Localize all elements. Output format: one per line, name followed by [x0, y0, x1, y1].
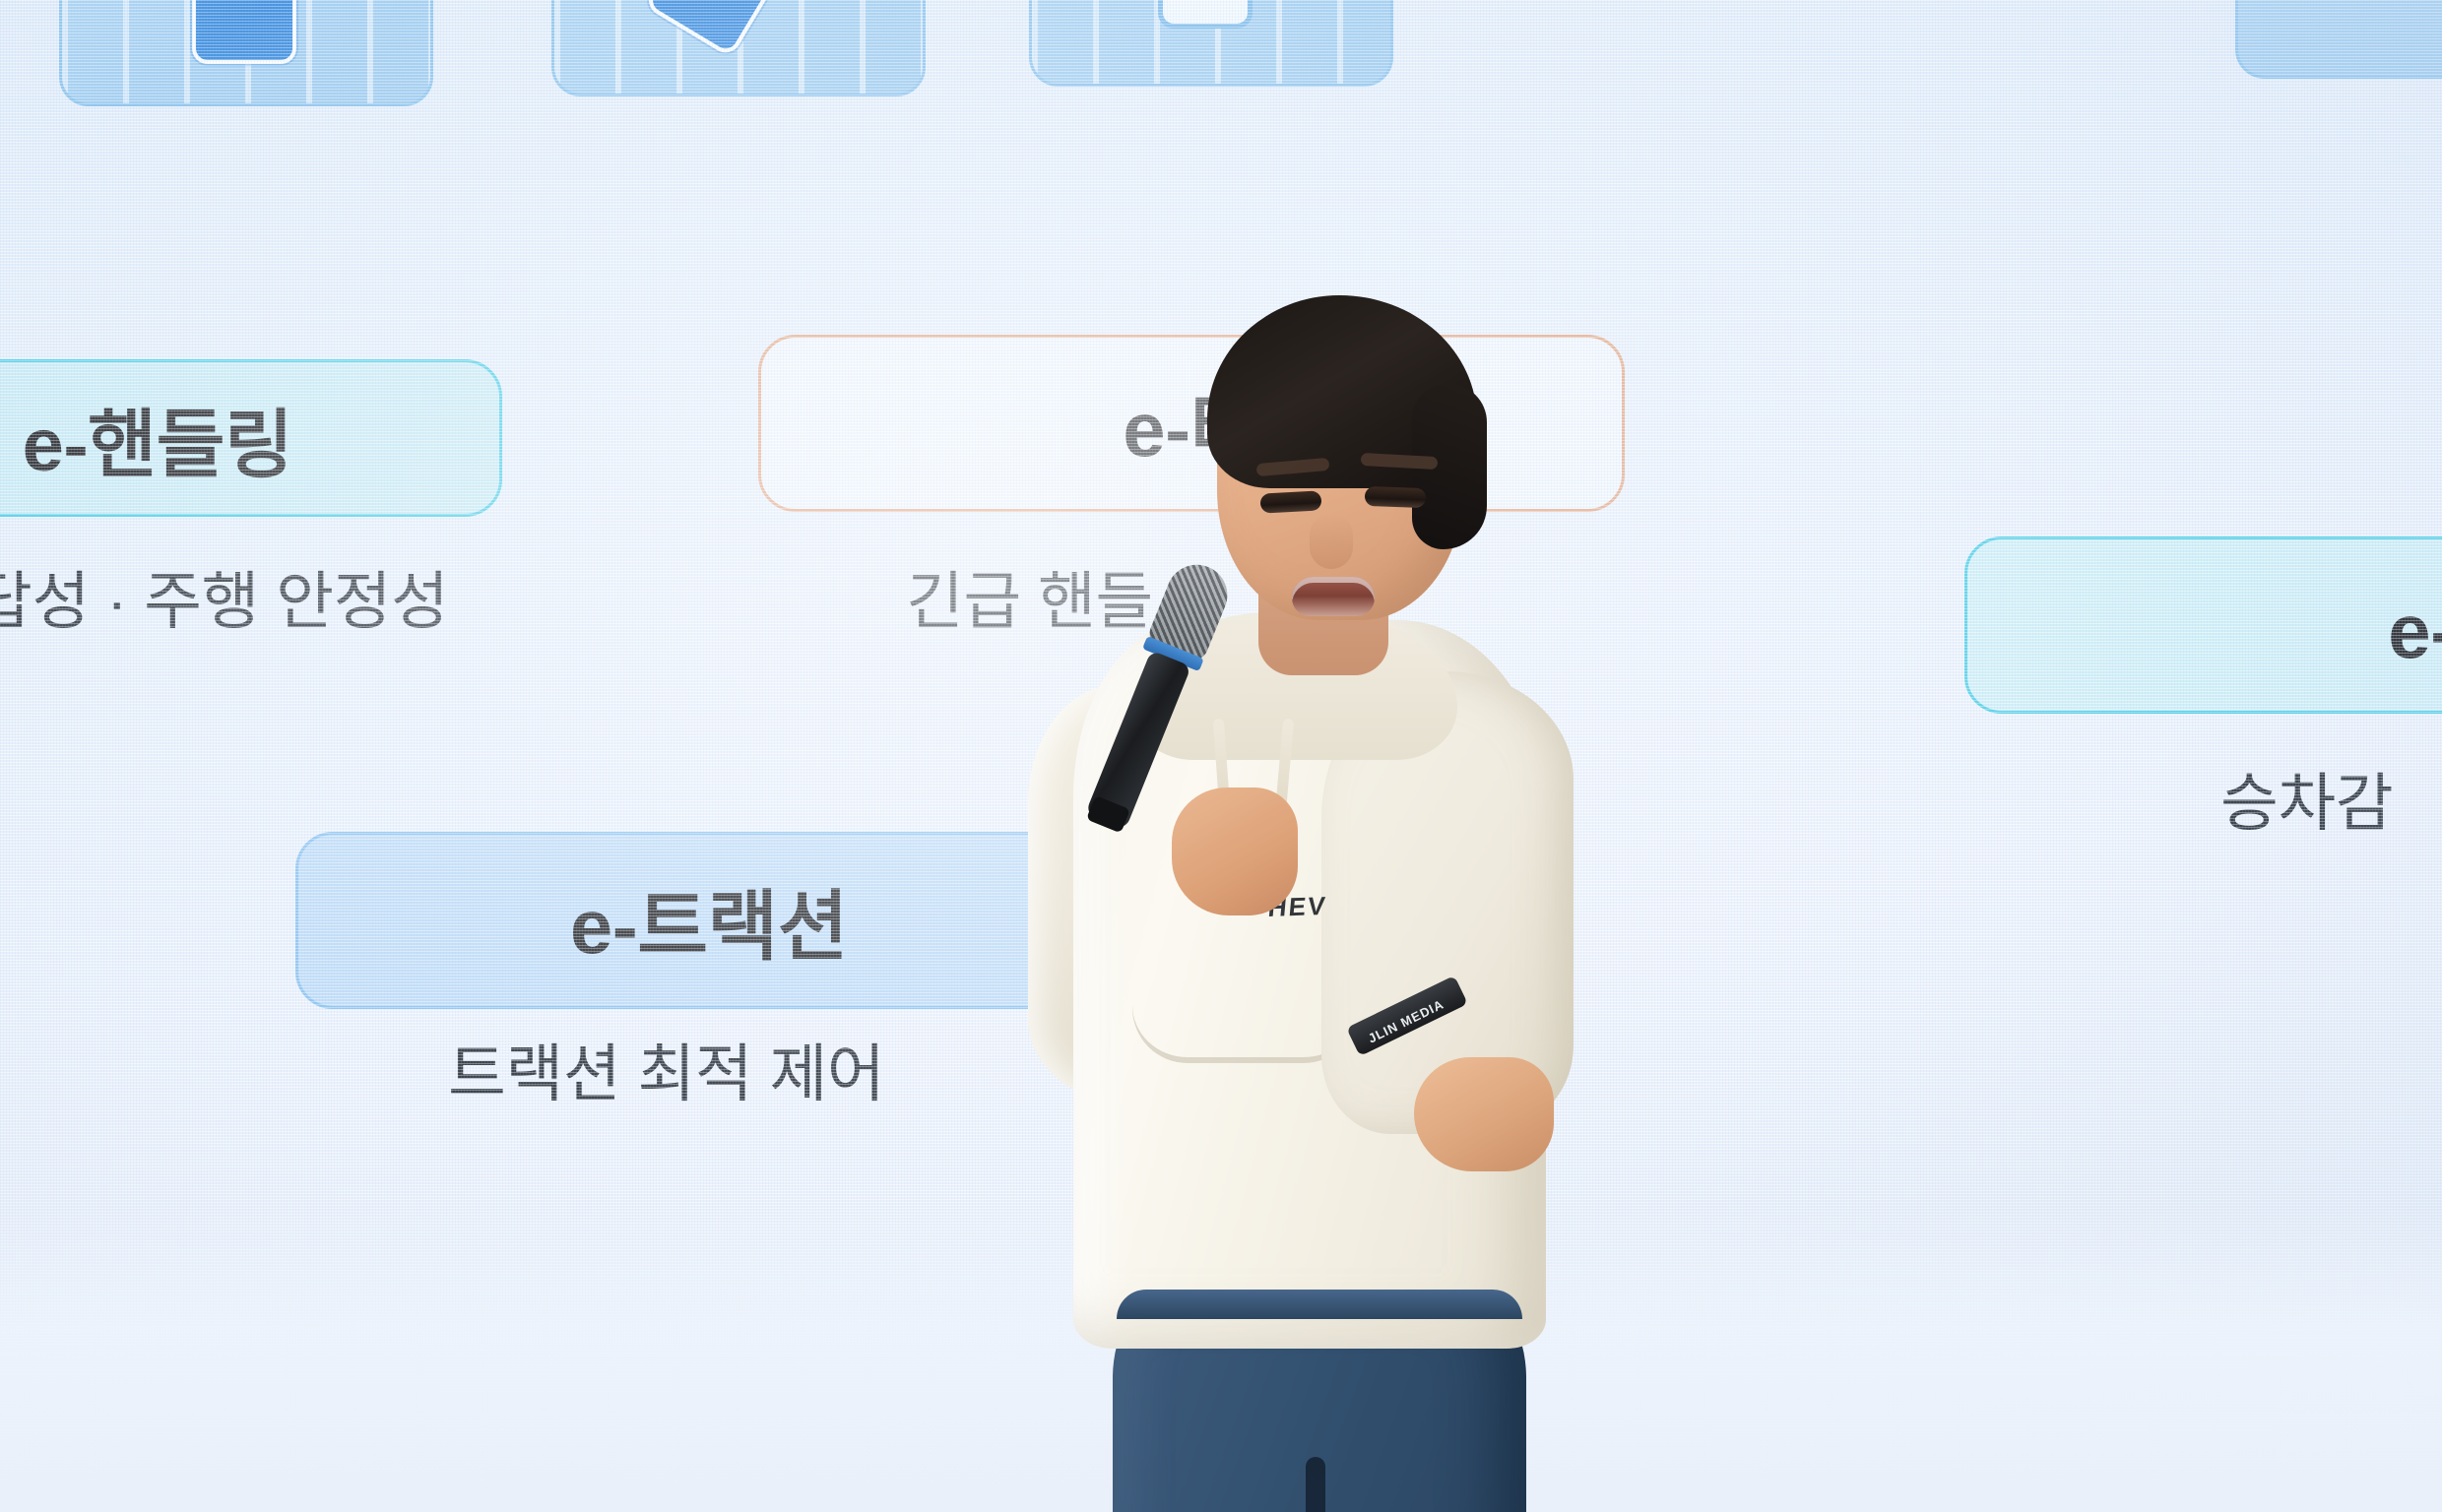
parking-slot-straight-icon — [59, 0, 433, 106]
feature-card-title: e-트랙션 — [570, 865, 848, 976]
feature-card-traction[interactable]: e-트랙션 — [295, 832, 1123, 1009]
feature-card-title: e-핸들링 — [23, 384, 293, 492]
feature-card-subtitle-handling: 향 응답성 · 주행 안정성 — [0, 551, 448, 642]
parking-slot-partial-icon — [2235, 0, 2442, 79]
feature-card-subtitle-traction: 트랙션 최적 제어 — [448, 1024, 884, 1114]
car-glyph — [1158, 0, 1253, 29]
feature-card-handling[interactable]: e-핸들링 — [0, 359, 502, 517]
parking-slot-narrow-icon — [1029, 0, 1393, 87]
nose — [1310, 514, 1353, 569]
feature-card-ride[interactable]: e-라 — [1964, 536, 2442, 714]
presenter: HEV JLIN MEDIA — [1014, 325, 1625, 1512]
jeans-leg-seam — [1306, 1457, 1325, 1512]
waistband — [1117, 1290, 1522, 1319]
mouth — [1292, 577, 1375, 616]
hand-holding-microphone — [1172, 787, 1298, 915]
parking-slot-diagonal-icon — [551, 0, 926, 96]
feature-card-title: e-라 — [2388, 570, 2442, 680]
eye-right — [1365, 486, 1427, 508]
car-glyph — [192, 0, 296, 64]
eye-left — [1260, 490, 1322, 513]
feature-card-subtitle-ride: 승차감 — [2220, 753, 2393, 844]
presentation-screen: e-핸들링 향 응답성 · 주행 안정성 e-타 긴급 핸들 e-라 승차감 e… — [0, 0, 2442, 1512]
hand-holding-clicker — [1414, 1057, 1554, 1171]
